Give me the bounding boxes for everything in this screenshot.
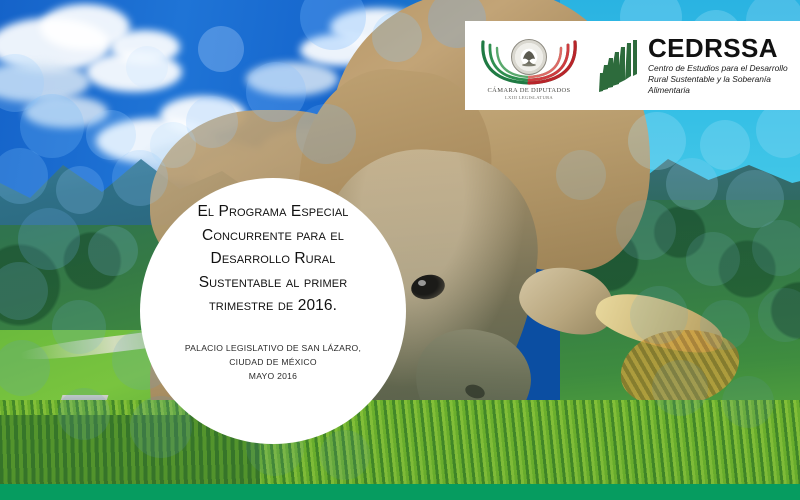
cedrssa-subtitle-line1: Centro de Estudios para el Desarrollo — [648, 63, 800, 74]
cover-imprint-line: MAYO 2016 — [166, 370, 381, 384]
cedrssa-subtitle-line2: Rural Sustentable y la Soberanía Aliment… — [648, 74, 800, 96]
cedrssa-subtitle: Centro de Estudios para el Desarrollo Ru… — [648, 63, 800, 95]
camara-de-diputados-logo: CÁMARA DE DIPUTADOS LXIII LEGISLATURA — [465, 32, 593, 100]
cover-imprint: PALACIO LEGISLATIVO DE SAN LÁZARO, CIUDA… — [166, 342, 381, 384]
cover-title: El Programa Especial Concurrente para el… — [166, 200, 381, 318]
cover-title-line: trimestre de 2016. — [166, 294, 381, 318]
cedrssa-logo: CEDRSSA Centro de Estudios para el Desar… — [593, 35, 800, 95]
cedrssa-text-block: CEDRSSA Centro de Estudios para el Desar… — [648, 35, 800, 95]
cloud — [246, 62, 338, 96]
camara-logo-line1: CÁMARA DE DIPUTADOS — [487, 87, 570, 94]
cedrssa-title: CEDRSSA — [648, 35, 800, 61]
bottom-green-bar — [0, 484, 800, 500]
camara-logo-line2: LXIII LEGISLATURA — [505, 95, 553, 100]
cow-eye-highlight — [418, 280, 426, 286]
report-cover: CÁMARA DE DIPUTADOS LXIII LEGISLATURA CE… — [0, 0, 800, 500]
eagle-glyph-icon — [518, 47, 540, 67]
camara-emblem-icon — [477, 36, 581, 86]
logo-box: CÁMARA DE DIPUTADOS LXIII LEGISLATURA CE… — [465, 21, 800, 110]
title-circle: El Programa Especial Concurrente para el… — [140, 178, 406, 444]
cover-title-line: Concurrente para el — [166, 224, 381, 248]
cover-title-line: El Programa Especial — [166, 200, 381, 224]
cover-title-line: Desarrollo Rural — [166, 247, 381, 271]
cover-imprint-line: CIUDAD DE MÉXICO — [166, 356, 381, 370]
cover-imprint-line: PALACIO LEGISLATIVO DE SAN LÁZARO, — [166, 342, 381, 356]
cedrssa-fan-icon — [599, 40, 643, 92]
mexican-seal-icon — [511, 39, 547, 75]
cloud — [110, 30, 180, 64]
cover-title-line: Sustentable al primer — [166, 271, 381, 295]
cloud — [24, 96, 108, 128]
